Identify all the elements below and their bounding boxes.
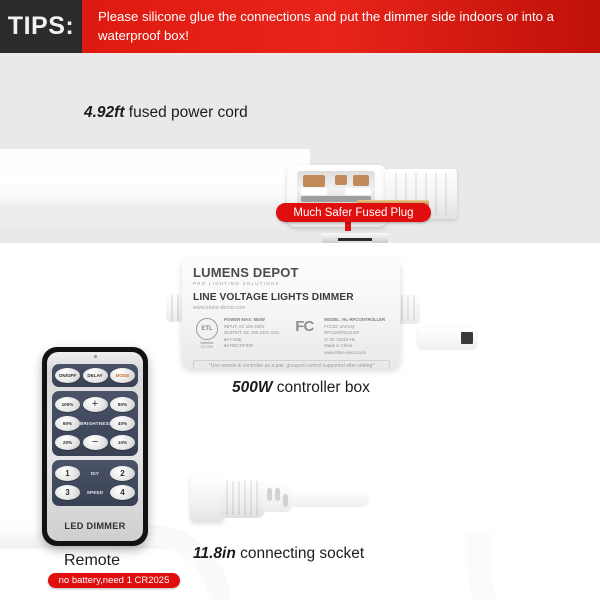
remote-button-40[interactable]: 40% xyxy=(110,416,135,431)
controller-box: LUMENS DEPOT PRO LIGHTING SOLUTIONS LINE… xyxy=(182,258,400,368)
connector-pins-icon xyxy=(461,332,473,344)
controller-pairing-note: *Use remote & controller as a pair, grou… xyxy=(193,360,390,368)
remote-label-speed: SPEED xyxy=(80,490,110,495)
controller-wattage: 500W xyxy=(232,379,273,396)
controller-spec-right-lines: MODEL: HL-RFCONTROLLER FCCID: 2AKVQ-RFCO… xyxy=(321,317,390,356)
remote-button-10[interactable]: 10% xyxy=(110,435,135,450)
remote-button-1[interactable]: 1 xyxy=(55,466,80,481)
cable-shadow xyxy=(0,203,300,225)
remote-label-diy: DIY xyxy=(80,471,110,476)
remote-button-3[interactable]: 3 xyxy=(55,485,80,500)
spec-fccid: FCCID: 2AKVQ-RFCONTROLLER xyxy=(324,324,390,337)
fcc-mark-icon: FC xyxy=(295,319,321,334)
socket-head xyxy=(190,474,224,522)
tips-label-text: TIPS: xyxy=(8,12,74,41)
ir-emitter-icon xyxy=(94,355,97,358)
remote-button-mode[interactable]: MODE xyxy=(110,368,135,383)
spec-model: MODEL: HL-RFCONTROLLER xyxy=(324,317,390,324)
controller-brand-tagline: PRO LIGHTING SOLUTIONS xyxy=(193,281,390,286)
remote-button-delay[interactable]: DELAY xyxy=(83,368,108,383)
socket-grip xyxy=(262,484,292,512)
controller-caption-text: controller box xyxy=(273,379,370,396)
tips-banner: TIPS: Please silicone glue the connectio… xyxy=(0,0,600,53)
spec-website: www.shine-decor.com xyxy=(324,350,390,357)
controller-spec-right: FC MODEL: HL-RFCONTROLLER FCCID: 2AKVQ-R… xyxy=(295,317,390,356)
remote-model-name: LED DIMMER xyxy=(47,521,143,531)
remote-caption: Remote xyxy=(64,552,120,570)
battery-badge: no battery,need 1 CR2025 xyxy=(48,573,180,588)
remote-button-increase[interactable]: + xyxy=(83,397,108,412)
tips-label-block: TIPS: xyxy=(0,0,82,53)
remote-pad-power: ON/OFF DELAY MODE xyxy=(52,364,138,387)
socket-caption: 11.8in connecting socket xyxy=(193,545,364,563)
output-connector xyxy=(418,328,476,348)
remote-button-2[interactable]: 2 xyxy=(110,466,135,481)
remote-faceplate: ON/OFF DELAY MODE 100% + 80% 60% BRIGHTN… xyxy=(47,352,143,541)
remote-button-60[interactable]: 60% xyxy=(55,416,80,431)
tips-message-block: Please silicone glue the connections and… xyxy=(82,0,600,53)
remote-pad-brightness: 100% + 80% 60% BRIGHTNESS 40% 20% − 10% xyxy=(52,391,138,456)
fused-plug-badge-text: Much Safer Fused Plug xyxy=(293,207,413,219)
remote-pad-diy-speed: 1 DIY 2 3 SPEED 4 xyxy=(52,460,138,506)
power-cord-caption: 4.92ft fused power cord xyxy=(84,104,248,122)
socket-cable xyxy=(289,490,369,507)
power-cord-length: 4.92ft xyxy=(84,104,125,121)
remote-button-4[interactable]: 4 xyxy=(110,485,135,500)
power-cord-caption-text: fused power cord xyxy=(125,104,248,121)
remote-button-100[interactable]: 100% xyxy=(55,397,80,412)
spec-output: OUTPUT: DC 100-240V 1CH xyxy=(224,330,279,337)
intertek-number: 5023985 xyxy=(201,345,213,349)
remote-label-brightness: BRIGHTNESS xyxy=(80,421,110,426)
controller-product-title: LINE VOLTAGE LIGHTS DIMMER xyxy=(193,292,390,303)
fused-plug-badge: Much Safer Fused Plug xyxy=(276,203,431,222)
controller-spec-left-lines: POWER MAX: 500W INPUT: AC 100-240V OUTPU… xyxy=(221,317,279,350)
battery-badge-text: no battery,need 1 CR2025 xyxy=(59,575,170,586)
socket-body xyxy=(220,478,266,518)
controller-caption: 500W controller box xyxy=(232,379,370,397)
remote-caption-text: Remote xyxy=(64,552,120,569)
infographic-page: TIPS: Please silicone glue the connectio… xyxy=(0,0,600,600)
socket-length: 11.8in xyxy=(193,545,236,562)
socket-caption-text: connecting socket xyxy=(236,545,364,562)
remote-button-80[interactable]: 80% xyxy=(110,397,135,412)
right-cable-curve xyxy=(470,533,600,600)
controller-url: www.shine-decor.com xyxy=(193,305,390,311)
remote-button-decrease[interactable]: − xyxy=(83,435,108,450)
spec-rectifier: 8A RECTIFIER xyxy=(224,343,279,350)
led-remote-control[interactable]: ON/OFF DELAY MODE 100% + 80% 60% BRIGHTN… xyxy=(42,347,148,546)
controller-brand: LUMENS DEPOT xyxy=(193,265,390,280)
controller-spec-left: ETL Intertek 5023985 POWER MAX: 500W INP… xyxy=(193,317,295,356)
tips-message-text: Please silicone glue the connections and… xyxy=(98,8,586,45)
remote-button-20[interactable]: 20% xyxy=(55,435,80,450)
connecting-socket xyxy=(190,472,300,524)
etl-mark-icon: ETL xyxy=(196,318,218,340)
remote-button-onoff[interactable]: ON/OFF xyxy=(55,368,80,383)
